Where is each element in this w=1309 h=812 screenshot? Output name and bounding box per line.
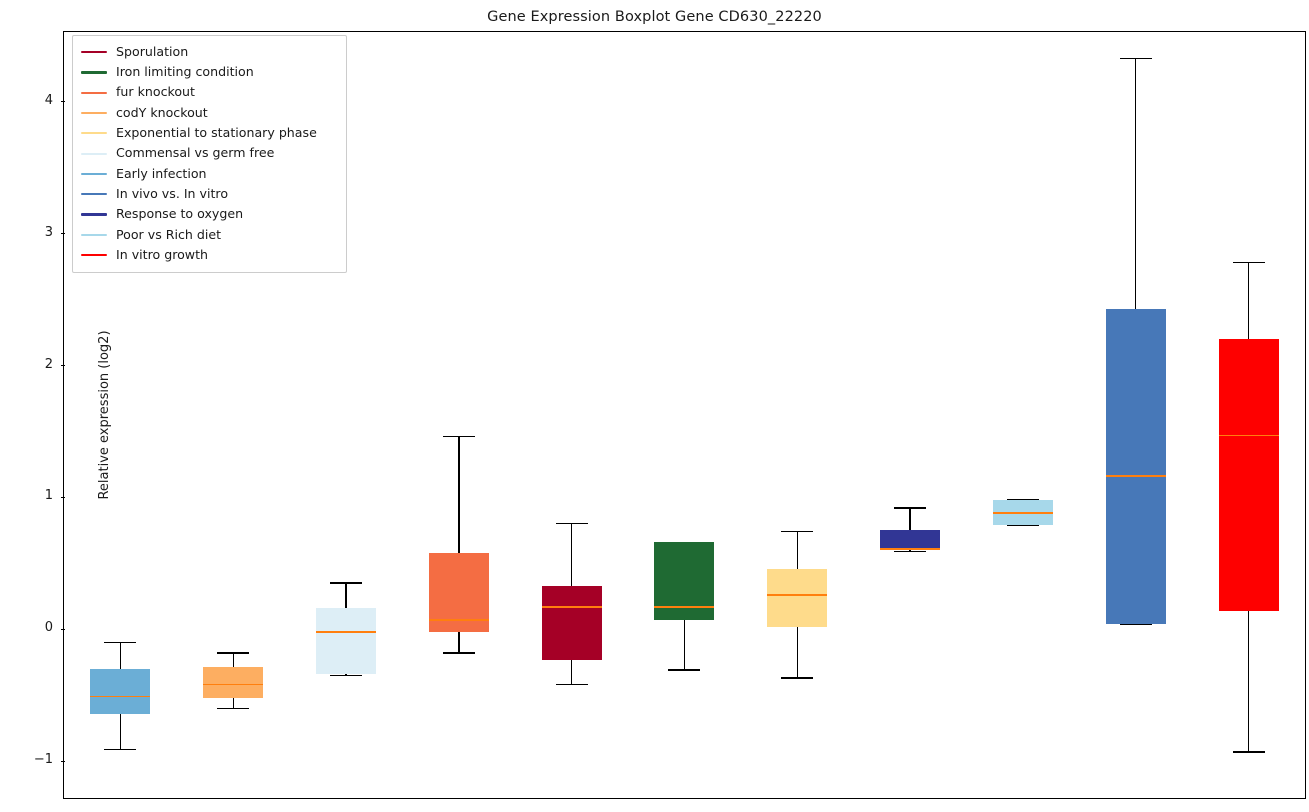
legend-item-label: Sporulation <box>116 46 188 59</box>
legend-item[interactable]: Early infection <box>81 164 338 184</box>
figure-canvas: Gene Expression Boxplot Gene CD630_22220… <box>0 0 1309 812</box>
box-rect[interactable] <box>654 542 714 620</box>
whisker-cap-upper <box>781 531 813 532</box>
legend-item-label: In vivo vs. In vitro <box>116 188 228 201</box>
median-line <box>203 684 263 686</box>
whisker-lower <box>1248 611 1249 752</box>
legend-color-swatch <box>81 71 107 73</box>
boxplot-box-group[interactable] <box>402 32 515 798</box>
whisker-upper <box>797 532 798 569</box>
legend-color-swatch <box>81 193 107 195</box>
y-axis-tick-label: 4 <box>45 93 53 108</box>
median-line <box>1106 475 1166 477</box>
whisker-upper <box>909 508 910 530</box>
box-rect[interactable] <box>90 669 150 714</box>
legend-item-label: Iron limiting condition <box>116 66 254 79</box>
whisker-upper <box>233 653 234 668</box>
median-line <box>90 696 150 698</box>
legend-color-swatch <box>81 153 107 155</box>
boxplot-box-group[interactable] <box>741 32 854 798</box>
median-line <box>1219 435 1279 437</box>
whisker-cap-lower <box>217 708 249 709</box>
legend-item-label: Commensal vs germ free <box>116 147 274 160</box>
whisker-upper <box>120 642 121 668</box>
legend-item[interactable]: Poor vs Rich diet <box>81 225 338 245</box>
whisker-cap-lower <box>781 677 813 678</box>
y-axis-tick-label: 3 <box>45 225 53 240</box>
legend-item-label: Exponential to stationary phase <box>116 127 317 140</box>
legend-item-label: Poor vs Rich diet <box>116 229 221 242</box>
legend-color-swatch <box>81 234 107 236</box>
whisker-cap-upper <box>330 582 362 583</box>
legend-item[interactable]: Exponential to stationary phase <box>81 123 338 143</box>
median-line <box>429 619 489 621</box>
legend-color-swatch <box>81 213 107 215</box>
whisker-cap-lower <box>668 669 700 670</box>
legend-item-label: In vitro growth <box>116 249 208 262</box>
whisker-cap-upper <box>443 436 475 437</box>
legend-item-label: Response to oxygen <box>116 208 243 221</box>
legend-color-swatch <box>81 254 107 256</box>
y-axis-tick-label: 1 <box>45 488 53 503</box>
median-line <box>654 606 714 608</box>
legend: SporulationIron limiting conditionfur kn… <box>72 35 347 273</box>
y-axis-tick-label: 0 <box>45 620 53 635</box>
y-axis-tick-label: 2 <box>45 357 53 372</box>
boxplot-box-group[interactable] <box>1079 32 1192 798</box>
whisker-cap-upper <box>556 523 588 524</box>
median-line <box>993 512 1053 514</box>
whisker-lower <box>458 632 459 653</box>
whisker-upper <box>1248 263 1249 339</box>
whisker-cap-upper <box>104 642 136 643</box>
whisker-cap-lower <box>104 749 136 750</box>
legend-item[interactable]: Sporulation <box>81 42 338 62</box>
legend-item[interactable]: Response to oxygen <box>81 204 338 224</box>
legend-color-swatch <box>81 112 107 114</box>
whisker-cap-upper <box>894 507 926 508</box>
whisker-cap-lower <box>1233 751 1265 752</box>
legend-item[interactable]: codY knockout <box>81 103 338 123</box>
boxplot-box-group[interactable] <box>967 32 1080 798</box>
whisker-lower <box>120 714 121 750</box>
median-line <box>880 548 940 550</box>
legend-color-swatch <box>81 173 107 175</box>
boxplot-box-group[interactable] <box>1192 32 1305 798</box>
box-rect[interactable] <box>316 608 376 674</box>
box-rect[interactable] <box>1106 309 1166 624</box>
legend-item[interactable]: fur knockout <box>81 83 338 103</box>
boxplot-box-group[interactable] <box>515 32 628 798</box>
legend-color-swatch <box>81 92 107 94</box>
median-line <box>316 631 376 633</box>
whisker-upper <box>458 437 459 553</box>
legend-item-label: codY knockout <box>116 107 208 120</box>
legend-item[interactable]: Commensal vs germ free <box>81 143 338 163</box>
boxplot-box-group[interactable] <box>628 32 741 798</box>
whisker-lower <box>571 660 572 685</box>
whisker-upper <box>571 524 572 586</box>
whisker-lower <box>797 627 798 678</box>
whisker-cap-lower <box>556 684 588 685</box>
whisker-cap-lower <box>330 675 362 676</box>
box-rect[interactable] <box>203 667 263 697</box>
legend-item-label: Early infection <box>116 168 207 181</box>
legend-item-label: fur knockout <box>116 86 195 99</box>
whisker-cap-upper <box>1233 262 1265 263</box>
box-rect[interactable] <box>1219 339 1279 611</box>
whisker-cap-upper <box>1120 58 1152 59</box>
whisker-upper <box>1135 58 1136 308</box>
median-line <box>767 594 827 596</box>
whisker-cap-lower <box>443 652 475 653</box>
chart-title: Gene Expression Boxplot Gene CD630_22220 <box>0 9 1309 25</box>
y-axis-tick-label: −1 <box>34 752 53 767</box>
whisker-cap-lower <box>894 551 926 552</box>
box-rect[interactable] <box>767 569 827 627</box>
median-line <box>542 606 602 608</box>
box-rect[interactable] <box>542 586 602 660</box>
boxplot-box-group[interactable] <box>854 32 967 798</box>
whisker-lower <box>684 620 685 670</box>
whisker-upper <box>345 583 346 608</box>
legend-color-swatch <box>81 51 107 53</box>
legend-item[interactable]: Iron limiting condition <box>81 62 338 82</box>
legend-color-swatch <box>81 132 107 134</box>
legend-item[interactable]: In vivo vs. In vitro <box>81 184 338 204</box>
whisker-cap-upper <box>217 652 249 653</box>
legend-item[interactable]: In vitro growth <box>81 245 338 265</box>
